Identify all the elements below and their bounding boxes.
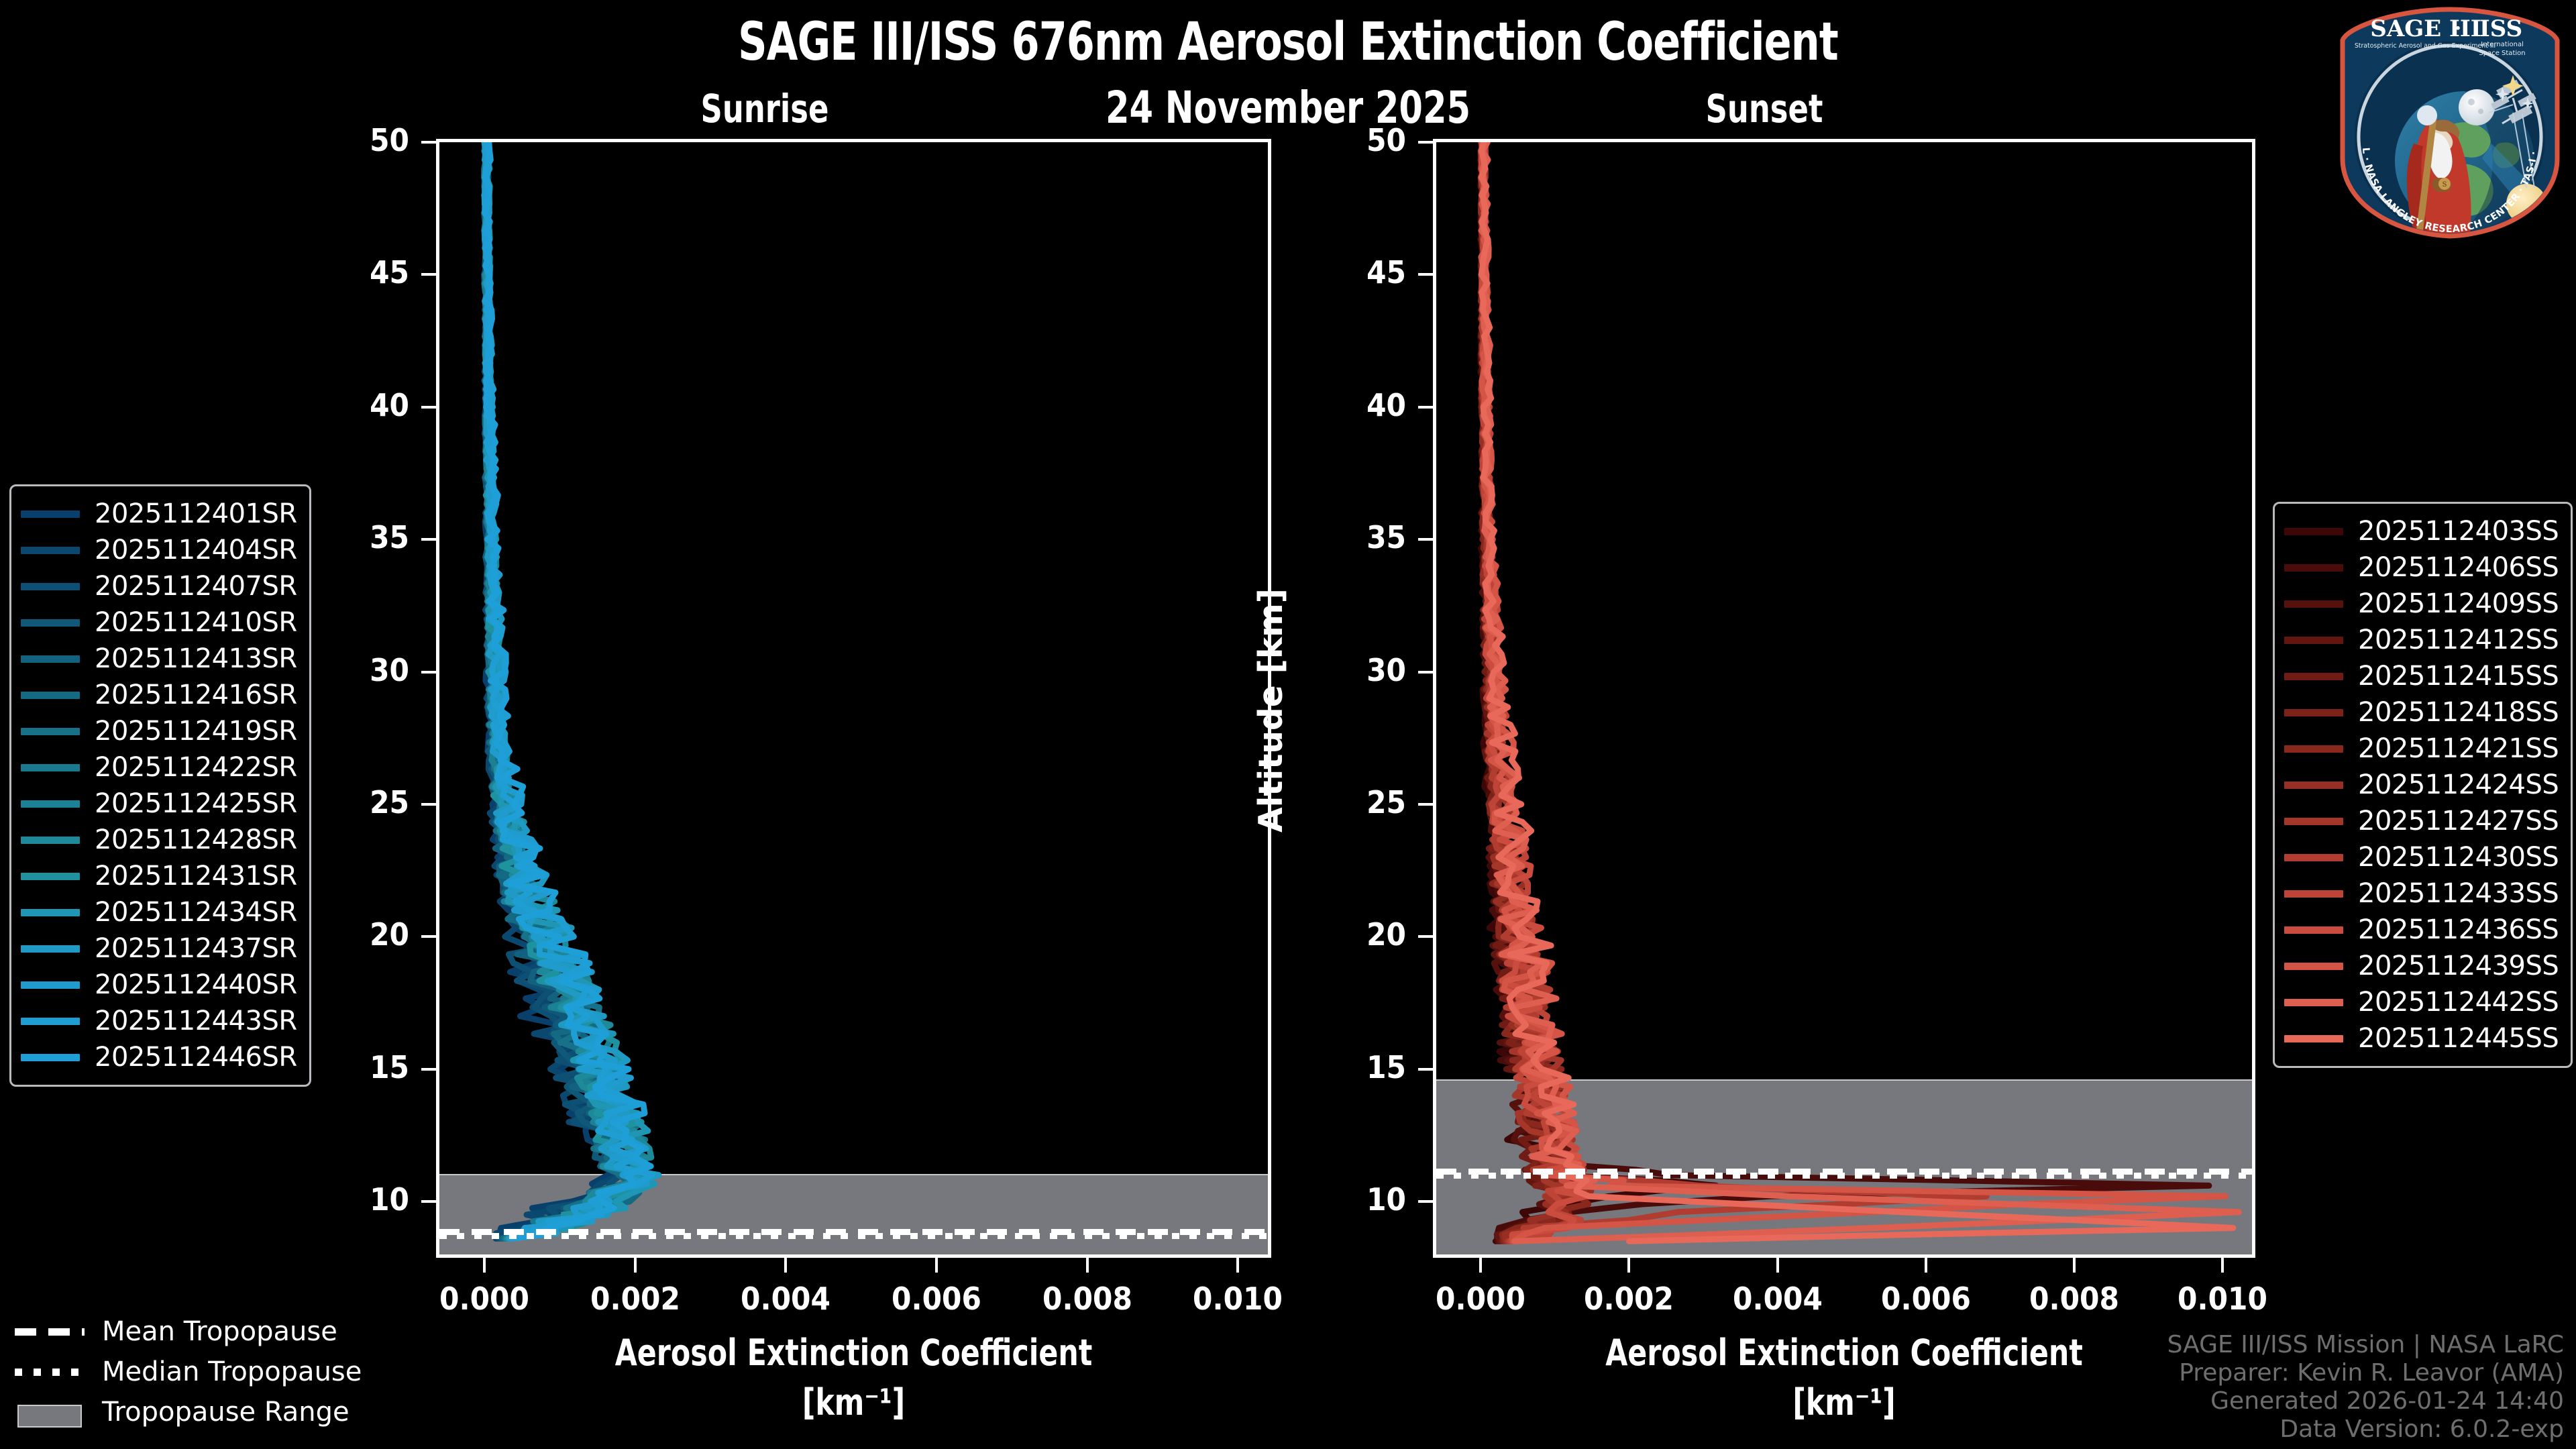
legend-color-swatch bbox=[21, 619, 80, 627]
legend-color-swatch bbox=[2284, 673, 2343, 680]
y-axis-tick bbox=[1418, 273, 1433, 276]
y-axis-tick-label: 50 bbox=[1289, 122, 1406, 158]
legend-item[interactable]: 2025112401SR bbox=[21, 496, 297, 532]
logo-subtitle-right-2: Space Station bbox=[2479, 50, 2525, 57]
legend-item-label: 2025112422SR bbox=[95, 752, 297, 783]
x-axis-tick-label: 0.006 bbox=[1845, 1281, 2006, 1317]
legend-color-swatch bbox=[2284, 890, 2343, 898]
legend-item[interactable]: 2025112419SR bbox=[21, 713, 297, 749]
legend-item[interactable]: 2025112439SS bbox=[2284, 948, 2559, 984]
legend-item-label: 2025112415SS bbox=[2358, 661, 2559, 692]
y-axis-tick bbox=[421, 273, 436, 276]
y-axis-tick-label: 40 bbox=[1289, 387, 1406, 423]
legend-color-swatch bbox=[21, 945, 80, 953]
legend-item-label: 2025112439SS bbox=[2358, 951, 2559, 981]
sunset-panel-title: Sunset bbox=[1689, 86, 1839, 131]
legend-item-label: 2025112440SR bbox=[95, 969, 297, 1000]
y-axis-tick-label: 20 bbox=[1289, 916, 1406, 953]
x-axis-tick bbox=[2073, 1258, 2076, 1273]
x-axis-tick-label: 0.002 bbox=[555, 1281, 715, 1317]
legend-color-swatch bbox=[2284, 854, 2343, 861]
x-axis-tick-label: 0.000 bbox=[1401, 1281, 1561, 1317]
legend-color-swatch bbox=[2284, 999, 2343, 1006]
legend-item-label: 2025112427SS bbox=[2358, 806, 2559, 837]
credits-line: Preparer: Kevin R. Leavor (AMA) bbox=[2167, 1359, 2564, 1387]
legend-color-swatch bbox=[2284, 1035, 2343, 1042]
legend-item[interactable]: 2025112428SR bbox=[21, 822, 297, 858]
legend-item[interactable]: 2025112424SS bbox=[2284, 767, 2559, 803]
legend-item-label: 2025112413SR bbox=[95, 643, 297, 674]
sunrise-plot-panel[interactable] bbox=[436, 139, 1271, 1258]
legend-color-swatch bbox=[2284, 709, 2343, 716]
x-axis-tick-label: 0.004 bbox=[706, 1281, 866, 1317]
legend-item-label: 2025112428SR bbox=[95, 824, 297, 855]
x-axis-tick-label: 0.008 bbox=[1007, 1281, 1167, 1317]
y-axis-tick bbox=[421, 1200, 436, 1203]
dotted-line-icon bbox=[15, 1365, 85, 1379]
legend-item[interactable]: 2025112415SS bbox=[2284, 658, 2559, 694]
legend-item-label: 2025112425SR bbox=[95, 788, 297, 819]
legend-color-swatch bbox=[21, 909, 80, 916]
logo-title-iss: ISS bbox=[2479, 15, 2522, 42]
y-axis-tick bbox=[421, 671, 436, 674]
x-axis-tick bbox=[1925, 1258, 1927, 1273]
y-axis-title: Altitude [km] bbox=[1252, 588, 1290, 833]
legend-color-swatch bbox=[2284, 528, 2343, 535]
legend-item[interactable]: 2025112446SR bbox=[21, 1039, 297, 1075]
legend-color-swatch bbox=[21, 981, 80, 989]
legend-color-swatch bbox=[21, 692, 80, 699]
legend-item[interactable]: 2025112440SR bbox=[21, 967, 297, 1003]
legend-item[interactable]: 2025112418SS bbox=[2284, 694, 2559, 731]
sunset-series-legend[interactable]: 2025112403SS2025112406SS2025112409SS2025… bbox=[2273, 502, 2573, 1068]
tropopause-legend-item[interactable]: Tropopause Range bbox=[15, 1392, 362, 1432]
x-axis-tick bbox=[1479, 1258, 1482, 1273]
x-axis-tick bbox=[1627, 1258, 1630, 1273]
x-axis-tick bbox=[1086, 1258, 1089, 1273]
x-axis-tick-label: 0.008 bbox=[1994, 1281, 2154, 1317]
tropopause-legend: Mean TropopauseMedian TropopauseTropopau… bbox=[15, 1311, 362, 1432]
legend-item[interactable]: 2025112413SR bbox=[21, 641, 297, 677]
legend-item-label: 2025112401SR bbox=[95, 498, 297, 529]
legend-color-swatch bbox=[2284, 926, 2343, 934]
logo-subtitle-left: Stratospheric Aerosol and Gas Experiment… bbox=[2355, 42, 2495, 50]
legend-item-label: 2025112437SR bbox=[95, 933, 297, 964]
legend-color-swatch bbox=[21, 511, 80, 518]
legend-item[interactable]: 2025112416SR bbox=[21, 677, 297, 713]
y-axis-tick bbox=[421, 1068, 436, 1071]
legend-item[interactable]: 2025112437SR bbox=[21, 930, 297, 967]
legend-item[interactable]: 2025112427SS bbox=[2284, 803, 2559, 839]
legend-color-swatch bbox=[2284, 818, 2343, 825]
legend-item-label: 2025112430SS bbox=[2358, 842, 2559, 873]
legend-item-label: 2025112424SS bbox=[2358, 769, 2559, 800]
y-axis-tick bbox=[421, 141, 436, 144]
y-axis-tick bbox=[1418, 1068, 1433, 1071]
tropopause-legend-label: Mean Tropopause bbox=[102, 1316, 337, 1347]
date-subtitle: 24 November 2025 bbox=[180, 82, 2396, 133]
legend-item-label: 2025112421SS bbox=[2358, 733, 2559, 764]
sunrise-panel-title: Sunrise bbox=[690, 86, 840, 131]
legend-item-label: 2025112409SS bbox=[2358, 588, 2559, 619]
legend-item[interactable]: 2025112403SS bbox=[2284, 513, 2559, 549]
x-axis-units: [km⁻¹] bbox=[486, 1381, 1222, 1424]
tropopause-legend-item[interactable]: Median Tropopause bbox=[15, 1352, 362, 1392]
y-axis-tick bbox=[421, 935, 436, 938]
legend-color-swatch bbox=[21, 583, 80, 590]
legend-color-swatch bbox=[21, 547, 80, 554]
legend-item[interactable]: 2025112412SS bbox=[2284, 622, 2559, 658]
legend-item[interactable]: 2025112406SS bbox=[2284, 549, 2559, 586]
y-axis-tick bbox=[1418, 406, 1433, 409]
credits-block: SAGE III/ISS Mission | NASA LaRCPreparer… bbox=[2167, 1331, 2564, 1444]
x-axis-tick bbox=[784, 1258, 787, 1273]
legend-color-swatch bbox=[21, 837, 80, 844]
page-title: SAGE III/ISS 676nm Aerosol Extinction Co… bbox=[180, 12, 2396, 72]
x-axis-tick bbox=[483, 1258, 486, 1273]
sunset-plot-panel[interactable] bbox=[1433, 139, 2255, 1258]
legend-color-swatch bbox=[21, 800, 80, 808]
y-axis-tick bbox=[1418, 803, 1433, 806]
y-axis-tick bbox=[1418, 538, 1433, 541]
legend-color-swatch bbox=[2284, 745, 2343, 753]
legend-item-label: 2025112433SS bbox=[2358, 878, 2559, 909]
credits-line: SAGE III/ISS Mission | NASA LaRC bbox=[2167, 1331, 2564, 1359]
x-axis-tick bbox=[1236, 1258, 1239, 1273]
legend-item-label: 2025112419SR bbox=[95, 716, 297, 747]
x-axis-title: Aerosol Extinction Coefficient bbox=[1483, 1332, 2206, 1374]
x-axis-tick bbox=[935, 1258, 938, 1273]
legend-item[interactable]: 2025112425SR bbox=[21, 786, 297, 822]
y-axis-tick-label: 10 bbox=[292, 1181, 409, 1218]
y-axis-tick-label: 25 bbox=[1289, 784, 1406, 820]
median-tropopause-line bbox=[1436, 1173, 2252, 1179]
credits-line: Data Version: 6.0.2-exp bbox=[2167, 1415, 2564, 1444]
y-axis-tick bbox=[1418, 1200, 1433, 1203]
shaded-range-patch-icon bbox=[15, 1405, 85, 1419]
legend-color-swatch bbox=[2284, 600, 2343, 608]
credits-line: Generated 2026-01-24 14:40 bbox=[2167, 1387, 2564, 1415]
x-axis-units: [km⁻¹] bbox=[1483, 1381, 2206, 1424]
legend-item-label: 2025112407SR bbox=[95, 571, 297, 602]
legend-color-swatch bbox=[21, 728, 80, 735]
legend-item-label: 2025112410SR bbox=[95, 607, 297, 638]
series-line bbox=[1482, 142, 2239, 1241]
legend-item-label: 2025112446SR bbox=[95, 1042, 297, 1073]
legend-item-label: 2025112403SS bbox=[2358, 516, 2559, 547]
sunrise-plot-area bbox=[439, 142, 1268, 1254]
dashed-line-icon bbox=[15, 1325, 85, 1338]
logo-title-sage: SAGE III bbox=[2370, 15, 2481, 42]
legend-item[interactable]: 2025112407SR bbox=[21, 568, 297, 604]
legend-color-swatch bbox=[21, 1054, 80, 1061]
x-axis-tick-label: 0.004 bbox=[1697, 1281, 1858, 1317]
legend-color-swatch bbox=[2284, 782, 2343, 789]
x-axis-tick bbox=[634, 1258, 637, 1273]
legend-item-label: 2025112442SS bbox=[2358, 987, 2559, 1018]
profile-curves bbox=[439, 142, 1268, 1254]
legend-item-label: 2025112445SS bbox=[2358, 1023, 2559, 1054]
legend-color-swatch bbox=[2284, 637, 2343, 644]
y-axis-tick bbox=[1418, 935, 1433, 938]
legend-item-label: 2025112436SS bbox=[2358, 914, 2559, 945]
legend-item[interactable]: 2025112404SR bbox=[21, 532, 297, 568]
y-axis-tick-label: 10 bbox=[1289, 1181, 1406, 1218]
sage-iii-iss-mission-patch-logo: S BALL · NASA LANGLEY RESEARCH CENTER · … bbox=[2333, 5, 2567, 239]
logo-subtitle-right-1: International bbox=[2481, 41, 2524, 48]
x-axis-tick-label: 0.002 bbox=[1549, 1281, 1709, 1317]
series-line bbox=[1481, 142, 2233, 1241]
legend-item[interactable]: 2025112409SS bbox=[2284, 586, 2559, 622]
tropopause-legend-label: Tropopause Range bbox=[102, 1397, 350, 1428]
y-axis-tick bbox=[1418, 671, 1433, 674]
y-axis-tick bbox=[1418, 141, 1433, 144]
legend-item[interactable]: 2025112430SS bbox=[2284, 839, 2559, 875]
legend-color-swatch bbox=[2284, 564, 2343, 572]
legend-item-label: 2025112434SR bbox=[95, 897, 297, 928]
legend-item-label: 2025112404SR bbox=[95, 535, 297, 566]
svg-text:S: S bbox=[2443, 181, 2447, 189]
legend-item[interactable]: 2025112434SR bbox=[21, 894, 297, 930]
legend-color-swatch bbox=[21, 764, 80, 771]
legend-item[interactable]: 2025112445SS bbox=[2284, 1020, 2559, 1057]
legend-color-swatch bbox=[21, 655, 80, 663]
x-axis-tick bbox=[2221, 1258, 2224, 1273]
x-axis-title: Aerosol Extinction Coefficient bbox=[486, 1332, 1222, 1374]
sunrise-series-legend[interactable]: 2025112401SR2025112404SR2025112407SR2025… bbox=[9, 484, 311, 1087]
legend-item[interactable]: 2025112443SR bbox=[21, 1003, 297, 1039]
y-axis-tick-label: 45 bbox=[1289, 254, 1406, 290]
tropopause-legend-label: Median Tropopause bbox=[102, 1356, 362, 1387]
y-axis-tick-label: 50 bbox=[292, 122, 409, 158]
series-line bbox=[1481, 142, 2209, 1241]
logo-title-dot: · bbox=[2455, 17, 2461, 40]
legend-item-label: 2025112416SR bbox=[95, 680, 297, 710]
series-line bbox=[1481, 142, 2226, 1241]
legend-color-swatch bbox=[21, 873, 80, 880]
y-axis-tick-label: 45 bbox=[292, 254, 409, 290]
legend-item[interactable]: 2025112433SS bbox=[2284, 875, 2559, 912]
legend-item[interactable]: 2025112422SR bbox=[21, 749, 297, 786]
y-axis-tick bbox=[421, 538, 436, 541]
legend-item-label: 2025112406SS bbox=[2358, 552, 2559, 583]
y-axis-tick-label: 40 bbox=[292, 387, 409, 423]
y-axis-tick-label: 30 bbox=[1289, 652, 1406, 688]
legend-item-label: 2025112412SS bbox=[2358, 625, 2559, 655]
legend-item-label: 2025112418SS bbox=[2358, 697, 2559, 728]
y-axis-tick-label: 15 bbox=[1289, 1049, 1406, 1085]
legend-item[interactable]: 2025112431SR bbox=[21, 858, 297, 894]
x-axis-tick bbox=[1776, 1258, 1779, 1273]
y-axis-tick bbox=[421, 803, 436, 806]
y-axis-tick bbox=[421, 406, 436, 409]
x-axis-tick-label: 0.006 bbox=[856, 1281, 1016, 1317]
median-tropopause-line bbox=[439, 1233, 1268, 1239]
legend-item[interactable]: 2025112410SR bbox=[21, 604, 297, 641]
legend-item-label: 2025112443SR bbox=[95, 1006, 297, 1036]
profile-curves bbox=[1436, 142, 2252, 1254]
legend-item[interactable]: 2025112436SS bbox=[2284, 912, 2559, 948]
legend-item-label: 2025112431SR bbox=[95, 861, 297, 892]
legend-item[interactable]: 2025112442SS bbox=[2284, 984, 2559, 1020]
legend-color-swatch bbox=[21, 1018, 80, 1025]
legend-color-swatch bbox=[2284, 963, 2343, 970]
x-axis-tick-label: 0.010 bbox=[1157, 1281, 1318, 1317]
y-axis-tick-label: 35 bbox=[1289, 519, 1406, 555]
legend-item[interactable]: 2025112421SS bbox=[2284, 731, 2559, 767]
tropopause-legend-item[interactable]: Mean Tropopause bbox=[15, 1311, 362, 1352]
x-axis-tick-label: 0.010 bbox=[2142, 1281, 2302, 1317]
sunset-plot-area bbox=[1436, 142, 2252, 1254]
x-axis-tick-label: 0.000 bbox=[405, 1281, 565, 1317]
